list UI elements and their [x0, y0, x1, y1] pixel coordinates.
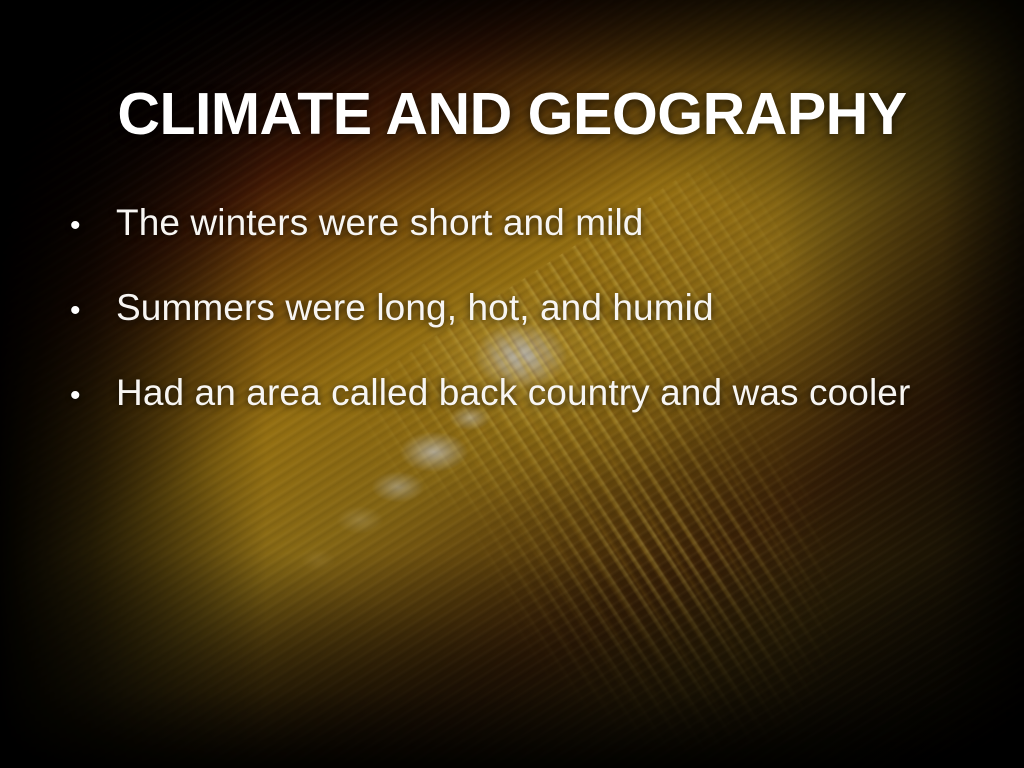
bullet-list: • The winters were short and mild • Summ… [62, 204, 1012, 459]
bullet-point-icon: • [62, 296, 116, 326]
list-item: • Had an area called back country and wa… [62, 374, 1012, 459]
slide-title: CLIMATE AND GEOGRAPHY [0, 84, 1024, 145]
bullet-item-label: Had an area called back country and was … [116, 374, 1012, 411]
list-item: • Summers were long, hot, and humid [62, 289, 1012, 374]
bullet-point-icon: • [62, 381, 116, 411]
bullet-point-icon: • [62, 211, 116, 241]
slide-content: CLIMATE AND GEOGRAPHY • The winters were… [0, 0, 1024, 768]
list-item: • The winters were short and mild [62, 204, 1012, 289]
bullet-item-label: Summers were long, hot, and humid [116, 289, 1012, 326]
bullet-item-label: The winters were short and mild [116, 204, 1012, 241]
presentation-slide: CLIMATE AND GEOGRAPHY • The winters were… [0, 0, 1024, 768]
